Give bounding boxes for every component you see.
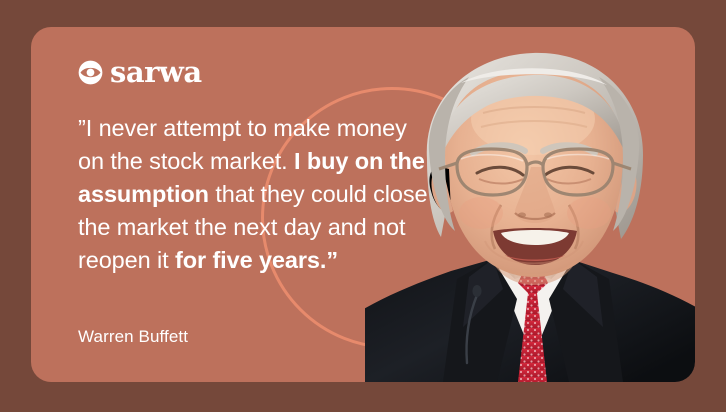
- sarwa-logo-text: sarwa: [110, 58, 202, 87]
- quote-card: sarwa ”I never attempt to make money on …: [31, 27, 695, 382]
- quote-segment-3: for five years.”: [175, 247, 338, 273]
- sarwa-logo[interactable]: sarwa: [78, 58, 202, 87]
- quote-attribution: Warren Buffett: [78, 327, 188, 347]
- quote-text: ”I never attempt to make money on the st…: [78, 112, 438, 277]
- sarwa-circle-mark-icon: [78, 60, 103, 85]
